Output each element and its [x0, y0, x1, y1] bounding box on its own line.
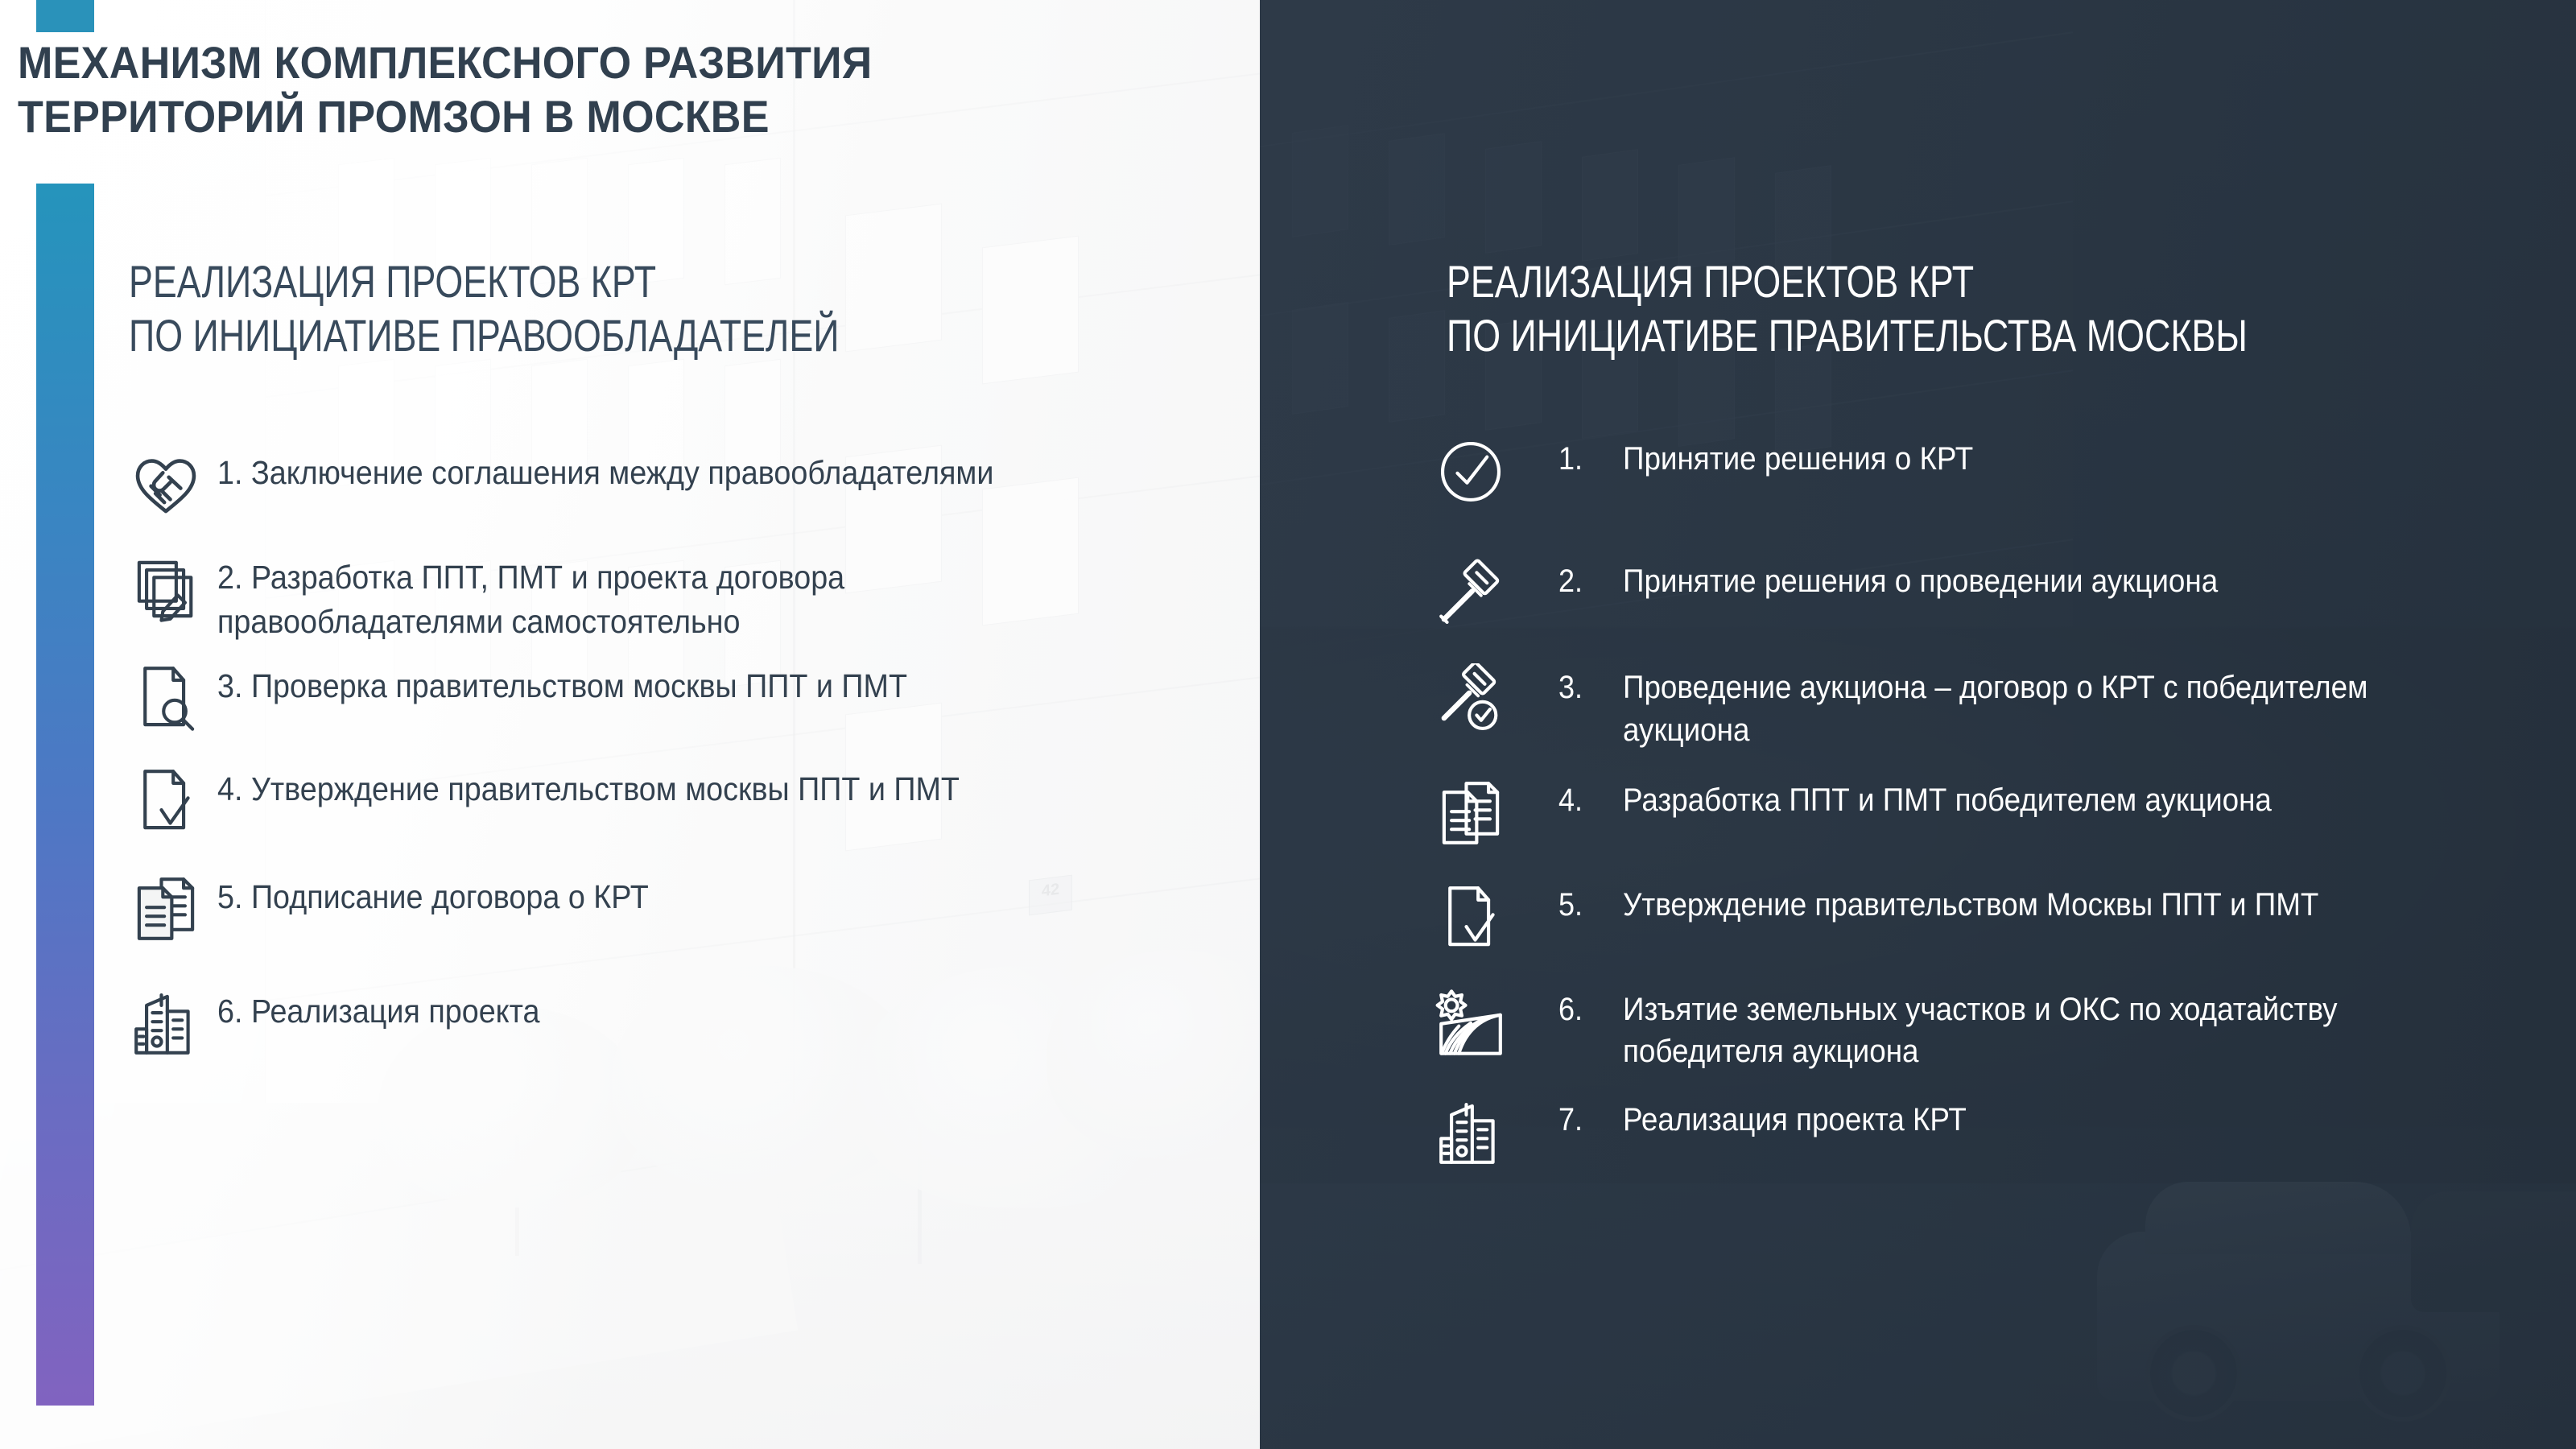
documents-pencil-icon: [129, 552, 217, 636]
list-item-label: 5. Подписание договора о КРТ: [217, 872, 1099, 919]
gavel-icon: [1434, 557, 1558, 638]
list-item-label: Принятие решения о проведении аукциона: [1623, 557, 2471, 603]
list-item[interactable]: 3. Проведение аукциона – договор о КРТ с…: [1434, 663, 2545, 752]
accent-square-top: [36, 0, 94, 32]
list-item[interactable]: 1. Заключение соглашения между правообла…: [129, 448, 1175, 531]
list-item[interactable]: 5. Подписание договора о КРТ: [129, 872, 1175, 956]
page-title: МЕХАНИЗМ КОМПЛЕКСНОГО РАЗВИТИЯ ТЕРРИТОРИ…: [18, 35, 1125, 143]
list-item-label: 1. Заключение соглашения между правообла…: [217, 448, 1099, 495]
list-item-label: Разработка ППТ и ПМТ победителем аукцион…: [1623, 776, 2471, 822]
list-item-number: 7.: [1558, 1096, 1616, 1141]
left-steps-list: 1. Заключение соглашения между правообла…: [129, 448, 1175, 1070]
list-item-label: Утверждение правительством Москвы ППТ и …: [1623, 881, 2471, 927]
list-item[interactable]: 3. Проверка правительством москвы ППТ и …: [129, 661, 1175, 745]
right-steps-list: 1. Принятие решения о КРТ 2. Принятие ре…: [1434, 435, 2545, 1176]
document-check-icon: [1434, 881, 1558, 961]
documents-stack-icon: [129, 872, 217, 956]
list-item[interactable]: 6. Изъятие земельных участков и ОКС по х…: [1434, 985, 2545, 1074]
list-item-label: 6. Реализация проекта: [217, 986, 1099, 1034]
documents-stack-icon: [1434, 776, 1558, 857]
list-item-label: 2. Разработка ППТ, ПМТ и проекта договор…: [217, 552, 1099, 643]
list-item[interactable]: 5. Утверждение правительством Москвы ППТ…: [1434, 881, 2545, 961]
document-search-icon: [129, 661, 217, 745]
list-item[interactable]: 2. Разработка ППТ, ПМТ и проекта договор…: [129, 552, 1175, 643]
list-item[interactable]: 4. Утверждение правительством москвы ППТ…: [129, 764, 1175, 848]
list-item[interactable]: 7. Реализация проекта КРТ: [1434, 1096, 2545, 1176]
list-item-number: 6.: [1558, 985, 1616, 1030]
document-check-icon: [129, 764, 217, 848]
accent-gradient-bar: [36, 184, 94, 1406]
list-item-number: 1.: [1558, 435, 1616, 480]
list-item-number: 2.: [1558, 557, 1616, 602]
list-item-number: 5.: [1558, 881, 1616, 926]
left-column-heading: РЕАЛИЗАЦИЯ ПРОЕКТОВ КРТ ПО ИНИЦИАТИВЕ ПР…: [129, 254, 1005, 362]
buildings-icon: [1434, 1096, 1558, 1176]
list-item-number: 3.: [1558, 663, 1616, 708]
left-panel: 42 МЕХАНИЗМ КОМПЛЕКСНОГО РАЗВИТИЯ ТЕРРИТ…: [0, 0, 1260, 1449]
list-item[interactable]: 1. Принятие решения о КРТ: [1434, 435, 2545, 515]
list-item-label: Изъятие земельных участков и ОКС по хода…: [1623, 985, 2471, 1074]
right-panel: РЕАЛИЗАЦИЯ ПРОЕКТОВ КРТ ПО ИНИЦИАТИВЕ ПР…: [1260, 0, 2576, 1449]
handshake-heart-icon: [129, 448, 217, 531]
slide-root: 42 МЕХАНИЗМ КОМПЛЕКСНОГО РАЗВИТИЯ ТЕРРИТ…: [0, 0, 2576, 1449]
list-item-label: Принятие решения о КРТ: [1623, 435, 2471, 481]
buildings-icon: [129, 986, 217, 1070]
list-item-label: 3. Проверка правительством москвы ППТ и …: [217, 661, 1099, 708]
list-item[interactable]: 6. Реализация проекта: [129, 986, 1175, 1070]
right-column-heading: РЕАЛИЗАЦИЯ ПРОЕКТОВ КРТ ПО ИНИЦИАТИВЕ ПР…: [1447, 254, 2348, 362]
list-item-label: 4. Утверждение правительством москвы ППТ…: [217, 764, 1099, 811]
list-item-number: 4.: [1558, 776, 1616, 821]
check-circle-icon: [1434, 435, 1558, 515]
list-item-label: Проведение аукциона – договор о КРТ с по…: [1623, 663, 2471, 752]
gavel-check-icon: [1434, 663, 1558, 744]
list-item[interactable]: 2. Принятие решения о проведении аукцион…: [1434, 557, 2545, 638]
land-plot-icon: [1434, 985, 1558, 1066]
list-item-label: Реализация проекта КРТ: [1623, 1096, 2471, 1141]
list-item[interactable]: 4. Разработка ППТ и ПМТ победителем аукц…: [1434, 776, 2545, 857]
